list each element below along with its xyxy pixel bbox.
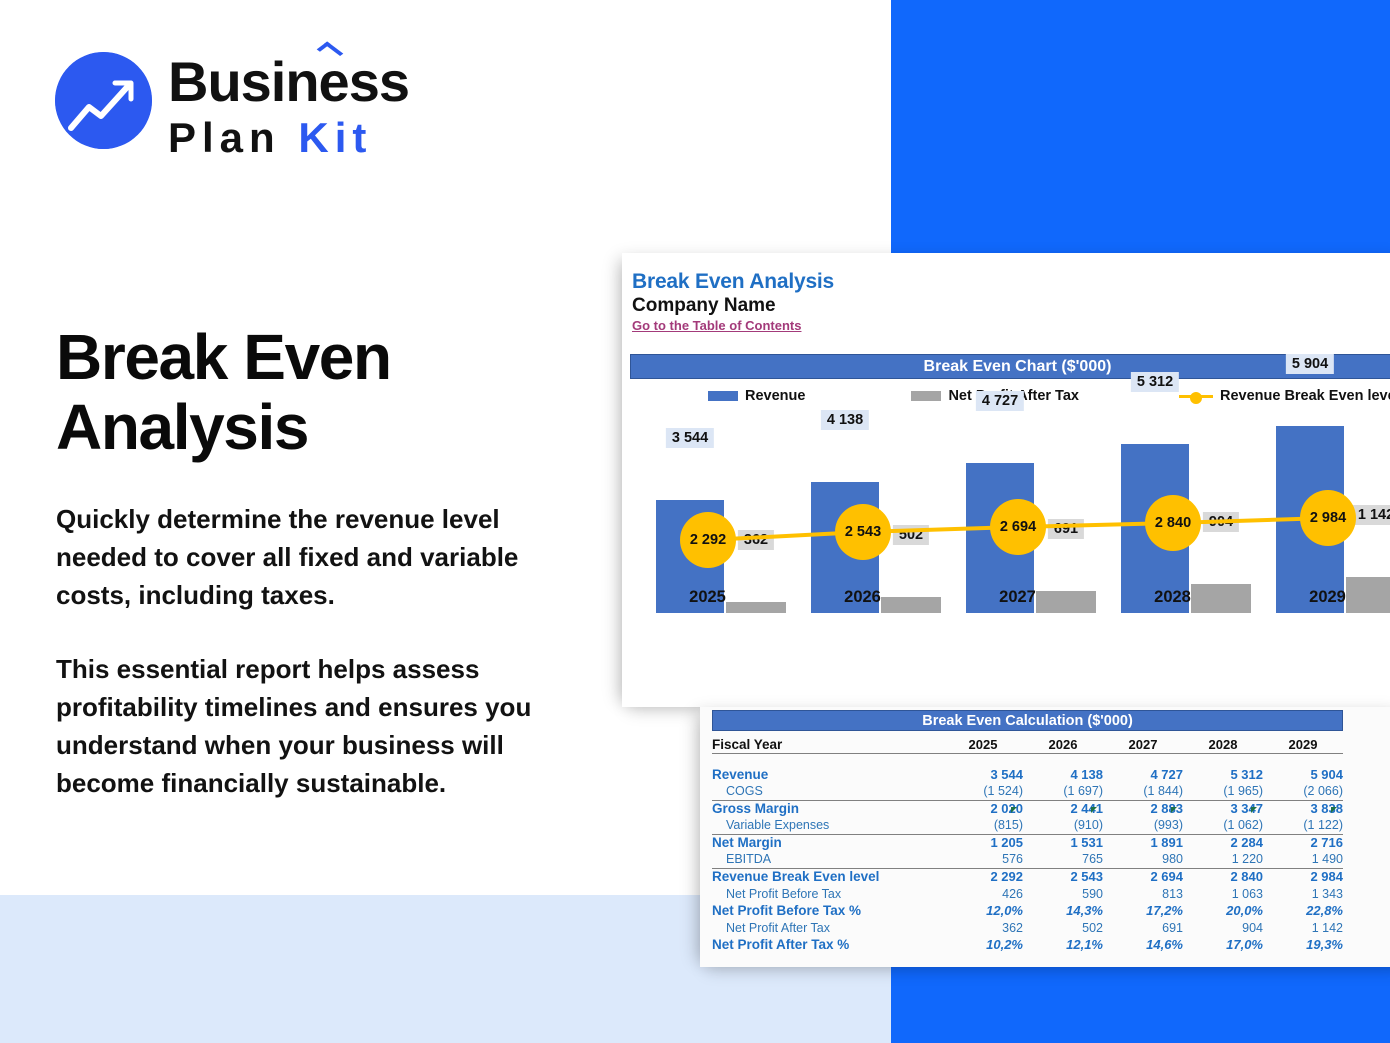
table-cell: 1 063 xyxy=(1183,885,1263,902)
brand-name-plan: Plan xyxy=(168,114,281,161)
table-cell: 1 220 xyxy=(1183,851,1263,868)
table-cell: 10,2% xyxy=(943,936,1023,953)
company-name: Company Name xyxy=(632,295,776,317)
table-cell: 691 xyxy=(1103,919,1183,936)
background-block-bottom-right xyxy=(891,967,1390,1043)
table-cell: (815) xyxy=(943,817,1023,834)
table-row[interactable]: EBITDA5767659801 2201 490 xyxy=(712,851,1343,868)
data-label-revenue: 5 904 xyxy=(1286,354,1334,374)
legend-item-revenue[interactable]: Revenue xyxy=(708,388,805,404)
comment-flag-icon xyxy=(1331,807,1337,813)
table-row-label: Net Margin xyxy=(712,834,943,851)
brand-name-kit: Kit xyxy=(298,114,372,161)
brand-wordmark: Business Plan Kit xyxy=(168,54,409,162)
table-cell: 12,1% xyxy=(1023,936,1103,953)
table-row-label: Revenue xyxy=(712,766,943,783)
table-header-year: 2027 xyxy=(1103,736,1183,753)
legend-label-break-even-level: Revenue Break Even level xyxy=(1220,388,1390,404)
table-cell: 5 312 xyxy=(1183,766,1263,783)
report-title: Break Even Analysis xyxy=(632,270,834,294)
table-row[interactable]: Net Profit After Tax %10,2%12,1%14,6%17,… xyxy=(712,936,1343,953)
table-cell: (1 122) xyxy=(1263,817,1343,834)
page-title: Break Even Analysis xyxy=(56,322,576,462)
table-cell: 17,0% xyxy=(1183,936,1263,953)
break-even-marker[interactable]: 2 840 xyxy=(1145,495,1201,551)
comment-flag-icon xyxy=(1011,807,1017,813)
comment-flag-icon xyxy=(1171,807,1177,813)
break-even-marker[interactable]: 2 694 xyxy=(990,499,1046,555)
table-cell: 19,3% xyxy=(1263,936,1343,953)
table-header-year: 2025 xyxy=(943,736,1023,753)
table-row[interactable]: COGS(1 524)(1 697)(1 844)(1 965)(2 066) xyxy=(712,783,1343,800)
break-even-marker[interactable]: 2 543 xyxy=(835,504,891,560)
table-cell: 426 xyxy=(943,885,1023,902)
table-cell: (993) xyxy=(1103,817,1183,834)
legend-swatch-net-profit-icon xyxy=(911,391,941,401)
table-row-label: Revenue Break Even level xyxy=(712,868,943,885)
table-cell: 904 xyxy=(1183,919,1263,936)
table-row-label: Variable Expenses xyxy=(712,817,943,834)
table-cell: (1 062) xyxy=(1183,817,1263,834)
table-cell: 20,0% xyxy=(1183,902,1263,919)
comment-flag-icon xyxy=(1251,807,1257,813)
comment-flag-icon xyxy=(1091,807,1097,813)
table-title-bar: Break Even Calculation ($'000) xyxy=(712,710,1343,731)
table-cell: 1 490 xyxy=(1263,851,1343,868)
break-even-marker[interactable]: 2 984 xyxy=(1300,490,1356,546)
table-row[interactable]: Revenue3 5444 1384 7275 3125 904 xyxy=(712,766,1343,783)
data-label-revenue: 5 312 xyxy=(1131,372,1179,392)
table-row-label: Net Profit After Tax % xyxy=(712,936,943,953)
table-cell: 1 891 xyxy=(1103,834,1183,851)
table-cell: 2 716 xyxy=(1263,834,1343,851)
table-cell: 2 543 xyxy=(1023,868,1103,885)
brand-name-line1: Business xyxy=(168,54,409,110)
table-cell: 590 xyxy=(1023,885,1103,902)
table-row-label: COGS xyxy=(712,783,943,800)
table-cell: (1 844) xyxy=(1103,783,1183,800)
chart-bars-layer: 3 54436220252 2924 13850220262 5434 7276… xyxy=(630,413,1390,658)
legend-swatch-revenue-icon xyxy=(708,391,738,401)
table-cell: 2 292 xyxy=(943,868,1023,885)
table-cell: 576 xyxy=(943,851,1023,868)
table-row-label: Net Profit After Tax xyxy=(712,919,943,936)
table-cell: 502 xyxy=(1023,919,1103,936)
chart-plot-area: 3 54436220252 2924 13850220262 5434 7276… xyxy=(630,413,1390,703)
table-cell: 5 904 xyxy=(1263,766,1343,783)
table-cell: 14,6% xyxy=(1103,936,1183,953)
calculation-card: Break Even Calculation ($'000) Fiscal Ye… xyxy=(700,707,1390,967)
table-row[interactable]: Variable Expenses(815)(910)(993)(1 062)(… xyxy=(712,817,1343,834)
brand-logo[interactable]: Business Plan Kit xyxy=(55,52,455,162)
table-cell: 2 284 xyxy=(1183,834,1263,851)
table-cell: 765 xyxy=(1023,851,1103,868)
table-header-year: 2028 xyxy=(1183,736,1263,753)
table-cell: 1 205 xyxy=(943,834,1023,851)
table-row-label: Net Profit Before Tax xyxy=(712,885,943,902)
table-cell: (1 965) xyxy=(1183,783,1263,800)
legend-label-revenue: Revenue xyxy=(745,388,805,404)
table-cell: 813 xyxy=(1103,885,1183,902)
chart-title-bar: Break Even Chart ($'000) xyxy=(630,354,1390,379)
table-of-contents-link[interactable]: Go to the Table of Contents xyxy=(632,318,801,333)
table-cell: 1 142 xyxy=(1263,919,1343,936)
table-header-row: Fiscal Year20252026202720282029 xyxy=(712,736,1343,753)
table-row[interactable]: Net Margin1 2051 5311 8912 2842 716 xyxy=(712,834,1343,851)
break-even-calculation-table: Fiscal Year20252026202720282029Revenue3 … xyxy=(712,736,1343,953)
table-header-year: 2029 xyxy=(1263,736,1343,753)
table-cell: 12,0% xyxy=(943,902,1023,919)
table-cell: (2 066) xyxy=(1263,783,1343,800)
table-header-year: 2026 xyxy=(1023,736,1103,753)
data-label-revenue: 4 727 xyxy=(976,391,1024,411)
table-row[interactable]: Net Profit Before Tax4265908131 0631 343 xyxy=(712,885,1343,902)
legend-marker-break-even-icon xyxy=(1179,391,1213,401)
legend-item-break-even-level[interactable]: Revenue Break Even level xyxy=(1179,388,1390,404)
brand-name-line2: Plan Kit xyxy=(168,114,409,162)
table-cell: (1 524) xyxy=(943,783,1023,800)
table-cell: 362 xyxy=(943,919,1023,936)
table-cell: 2 984 xyxy=(1263,868,1343,885)
hero-paragraph-2: This essential report helps assess profi… xyxy=(56,650,566,802)
break-even-marker[interactable]: 2 292 xyxy=(680,512,736,568)
table-cell: (910) xyxy=(1023,817,1103,834)
table-row-label: EBITDA xyxy=(712,851,943,868)
table-cell: 14,3% xyxy=(1023,902,1103,919)
background-block-top-right xyxy=(891,0,1390,254)
table-row[interactable]: Gross Margin2 0202 4412 8833 3473 838 xyxy=(712,800,1343,817)
table-spacer-row xyxy=(712,753,1343,766)
growth-arrow-circle-icon xyxy=(55,52,152,149)
table-row[interactable]: Revenue Break Even level2 2922 5432 6942… xyxy=(712,868,1343,885)
table-row-label: Net Profit Before Tax % xyxy=(712,902,943,919)
table-cell: 2 694 xyxy=(1103,868,1183,885)
chart-card: Break Even Analysis Company Name Go to t… xyxy=(622,253,1390,707)
table-cell: 22,8% xyxy=(1263,902,1343,919)
table-row[interactable]: Net Profit Before Tax %12,0%14,3%17,2%20… xyxy=(712,902,1343,919)
table-cell: 3 544 xyxy=(943,766,1023,783)
table-cell: 4 138 xyxy=(1023,766,1103,783)
table-cell: (1 697) xyxy=(1023,783,1103,800)
table-row-label: Gross Margin xyxy=(712,800,943,817)
table-cell: 1 343 xyxy=(1263,885,1343,902)
table-header-fiscal-year: Fiscal Year xyxy=(712,736,943,753)
poster-canvas: Business Plan Kit Break Even Analysis Qu… xyxy=(0,0,1390,1043)
hero-paragraph-1: Quickly determine the revenue level need… xyxy=(56,500,566,614)
brand-name-business: Business xyxy=(168,50,409,113)
table-row[interactable]: Net Profit After Tax3625026919041 142 xyxy=(712,919,1343,936)
table-cell: 1 531 xyxy=(1023,834,1103,851)
table-cell: 4 727 xyxy=(1103,766,1183,783)
table-cell: 2 840 xyxy=(1183,868,1263,885)
table-cell: 980 xyxy=(1103,851,1183,868)
table-cell: 17,2% xyxy=(1103,902,1183,919)
